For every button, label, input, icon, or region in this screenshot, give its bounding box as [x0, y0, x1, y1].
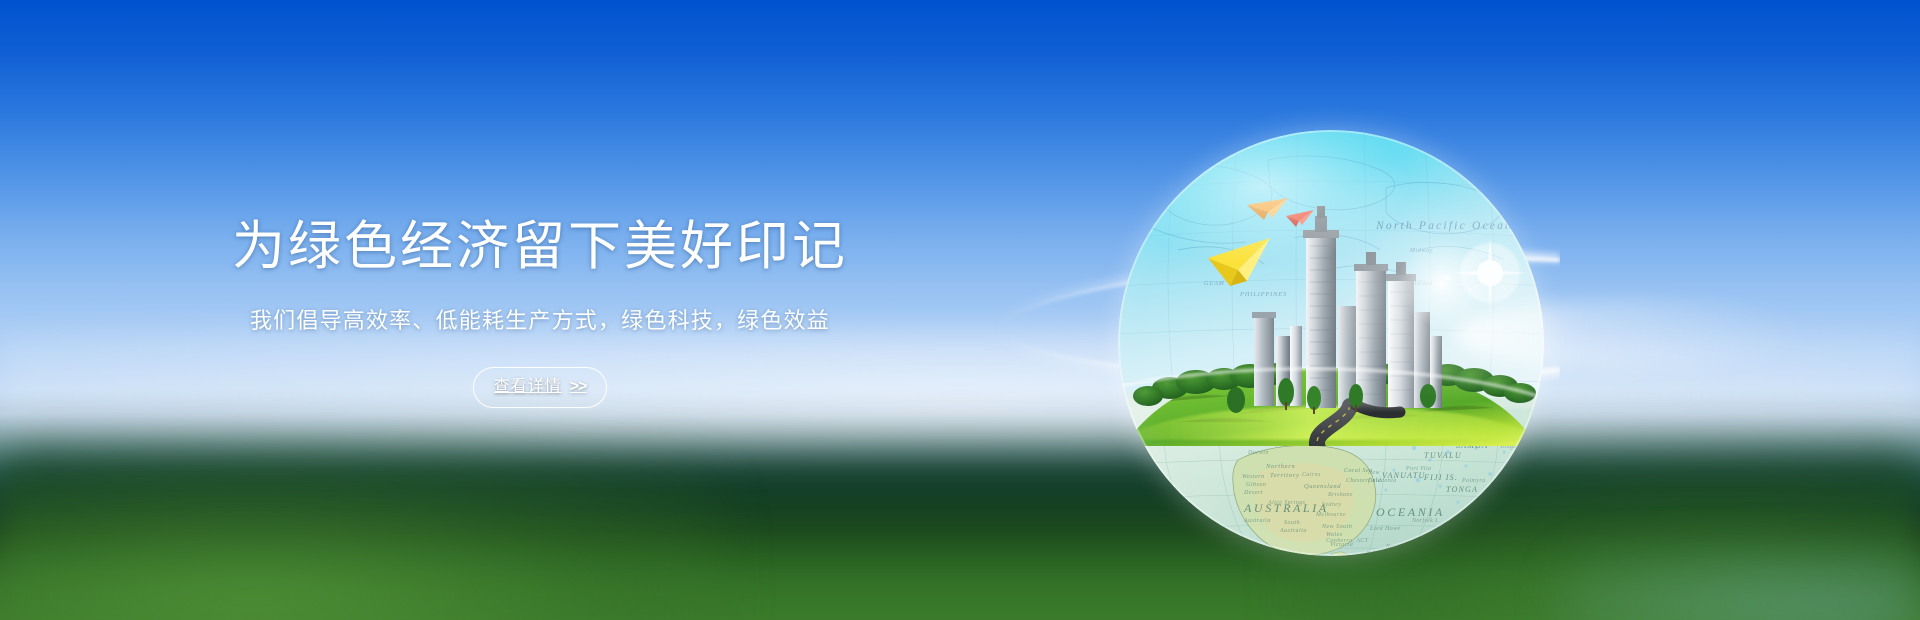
hero-banner: North Pacific Ocean Midway Wake Island G…: [0, 0, 1920, 620]
svg-text:GUAM: GUAM: [1204, 281, 1225, 287]
svg-text:PHILIPPINES: PHILIPPINES: [1239, 291, 1287, 298]
svg-text:TONGA: TONGA: [1446, 485, 1478, 494]
svg-text:Norfolk I.: Norfolk I.: [1411, 517, 1439, 524]
svg-text:Cairns: Cairns: [1302, 472, 1321, 478]
svg-text:Sydney: Sydney: [1322, 502, 1341, 508]
svg-text:Canberra, ACT: Canberra, ACT: [1326, 538, 1369, 544]
svg-text:New South: New South: [1321, 524, 1352, 530]
hero-copy-block: 为绿色经济留下美好印记 我们倡导高效率、低能耗生产方式，绿色科技，绿色效益 查看…: [0, 215, 1080, 408]
svg-text:Darwin: Darwin: [1247, 450, 1269, 456]
svg-text:Territory: Territory: [1270, 472, 1300, 479]
svg-text:Queensland: Queensland: [1304, 483, 1341, 490]
svg-text:OCEANIA: OCEANIA: [1376, 505, 1445, 519]
svg-text:FIJI IS.: FIJI IS.: [1423, 473, 1458, 482]
svg-text:Midway: Midway: [1409, 248, 1433, 254]
page-title: 为绿色经济留下美好印记: [0, 215, 1080, 279]
svg-text:Alice Springs: Alice Springs: [1267, 500, 1306, 506]
svg-text:TUVALU: TUVALU: [1424, 451, 1462, 460]
svg-text:Caledonia: Caledonia: [1368, 478, 1397, 484]
svg-text:South: South: [1284, 520, 1300, 526]
svg-text:Melbourne: Melbourne: [1315, 512, 1346, 518]
svg-text:Port Vila: Port Vila: [1405, 466, 1431, 472]
svg-text:Desert: Desert: [1243, 490, 1263, 496]
cta-container: 查看详情>>: [0, 367, 1080, 408]
svg-text:Australia: Australia: [1279, 528, 1307, 534]
svg-text:Palmyra: Palmyra: [1461, 478, 1485, 484]
cta-label: 查看详情: [494, 378, 562, 395]
svg-text:Gibson: Gibson: [1246, 482, 1266, 488]
grass-glow-left: [0, 460, 720, 620]
svg-text:New: New: [1367, 470, 1380, 476]
svg-text:Lord Howe: Lord Howe: [1369, 526, 1401, 532]
svg-text:North Pacific Ocean: North Pacific Ocean: [1375, 220, 1513, 232]
svg-text:Western: Western: [1242, 474, 1265, 480]
view-details-button[interactable]: 查看详情>>: [473, 367, 608, 408]
chevron-right-icon: >>: [570, 378, 587, 395]
svg-text:Brisbane: Brisbane: [1328, 492, 1353, 498]
glass-globe-image: North Pacific Ocean Midway Wake Island G…: [1118, 130, 1544, 556]
svg-text:Northern: Northern: [1265, 463, 1295, 470]
bottom-blue-haze: [1560, 550, 1920, 620]
page-subtitle: 我们倡导高效率、低能耗生产方式，绿色科技，绿色效益: [0, 305, 1080, 337]
svg-text:Australia: Australia: [1243, 518, 1271, 524]
